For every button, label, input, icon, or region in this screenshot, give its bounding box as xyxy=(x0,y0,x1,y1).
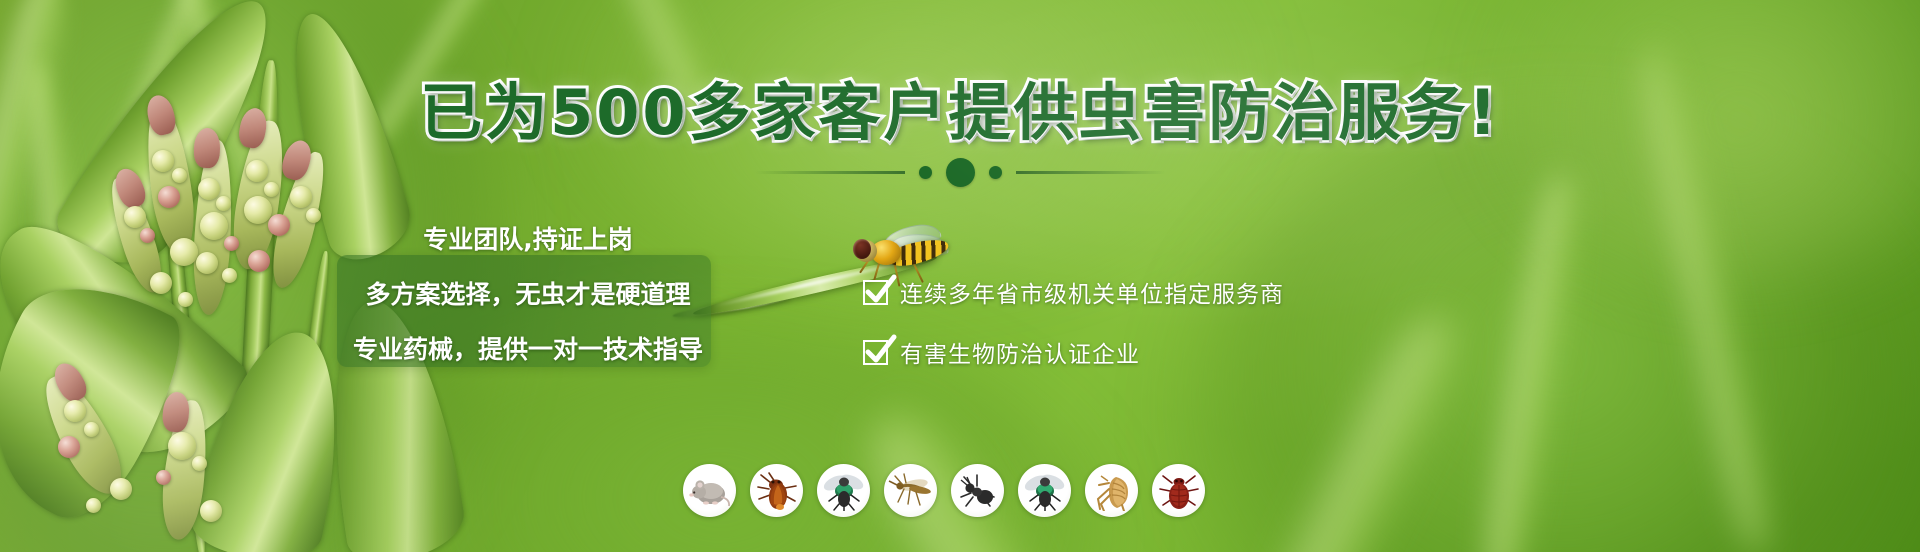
feature-text-group: 专业团队,持证上岗 多方案选择，无虫才是硬道理 专业药械，提供一对一技术指导 xyxy=(337,212,719,366)
decorative-dot-small xyxy=(989,166,1002,179)
check-box-icon xyxy=(863,340,888,365)
feature-line-1: 专业团队,持证上岗 xyxy=(423,220,633,256)
mouse-icon[interactable] xyxy=(683,464,736,517)
check-box-icon xyxy=(863,280,888,305)
list-item: 有害生物防治认证企业 xyxy=(863,335,1284,369)
headline-text: 已为500多家客户提供虫害防治服务! xyxy=(420,82,1500,144)
credential-text: 有害生物防治认证企业 xyxy=(900,335,1140,369)
blowfly-icon[interactable] xyxy=(1018,464,1071,517)
fly-icon[interactable] xyxy=(817,464,870,517)
feature-line-2: 多方案选择，无虫才是硬道理 xyxy=(365,275,690,311)
bedbug-icon[interactable] xyxy=(1152,464,1205,517)
decorative-dot-large xyxy=(946,158,975,187)
promotional-banner: 已为500多家客户提供虫害防治服务! 专业团队,持证上岗 多方案选择，无虫才是硬… xyxy=(0,0,1920,552)
mosquito-icon[interactable] xyxy=(884,464,937,517)
decorative-dot-small xyxy=(919,166,932,179)
ant-icon[interactable] xyxy=(951,464,1004,517)
flea-icon[interactable] xyxy=(1085,464,1138,517)
feature-line-3: 专业药械，提供一对一技术指导 xyxy=(353,330,703,366)
decorative-divider xyxy=(0,158,1920,187)
credential-text: 连续多年省市级机关单位指定服务商 xyxy=(900,275,1284,309)
credentials-list: 连续多年省市级机关单位指定服务商 有害生物防治认证企业 xyxy=(863,275,1284,369)
divider-line-left xyxy=(755,171,905,174)
page-title: 已为500多家客户提供虫害防治服务! xyxy=(0,82,1920,144)
divider-line-right xyxy=(1016,171,1166,174)
cockroach-icon[interactable] xyxy=(750,464,803,517)
list-item: 连续多年省市级机关单位指定服务商 xyxy=(863,275,1284,309)
pest-icon-row xyxy=(683,464,1205,517)
